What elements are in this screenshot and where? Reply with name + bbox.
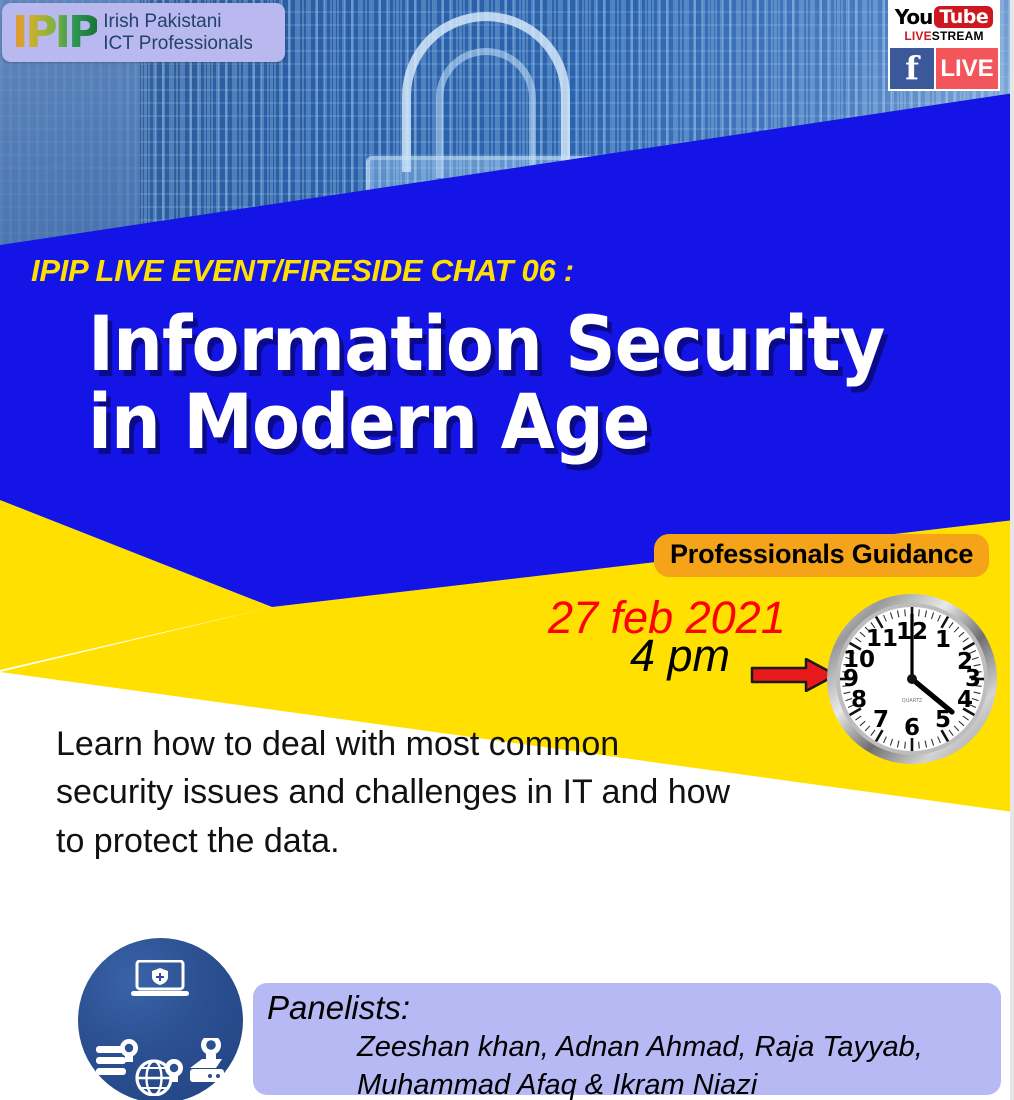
- laptop-shield-icon: [130, 960, 190, 998]
- panelists-title: Panelists:: [267, 991, 985, 1026]
- event-description: Learn how to deal with most common secur…: [56, 720, 796, 865]
- ipip-logo-name: Irish Pakistani ICT Professionals: [103, 11, 253, 54]
- clock-numeral-6: 6: [904, 715, 920, 741]
- facebook-f-icon: f: [890, 48, 934, 89]
- clock-numeral-11: 11: [866, 626, 898, 652]
- panelists-names: Zeeshan khan, Adnan Ahmad, Raja Tayyab, …: [357, 1028, 985, 1100]
- security-sub-icons: [92, 1038, 230, 1096]
- event-time: 4 pm: [630, 630, 730, 682]
- event-kicker: IPIP LIVE EVENT/FIRESIDE CHAT 06 :: [31, 253, 574, 289]
- page-title: Information Security in Modern Age: [88, 305, 884, 460]
- it-security-badge: [78, 938, 243, 1100]
- ipip-logo[interactable]: IPIP Irish Pakistani ICT Professionals: [2, 3, 285, 62]
- livestream-badges: You Tube LIVESTREAM f LIVE: [888, 0, 1000, 91]
- professionals-guidance-badge: Professionals Guidance: [654, 534, 989, 577]
- analog-clock: 12 1 2 3 4 5 6 7 8 9 10 11 QUARTZ: [824, 590, 1000, 766]
- event-poster: IPIP Irish Pakistani ICT Professionals Y…: [0, 0, 1014, 1100]
- panelists-box: Panelists: Zeeshan khan, Adnan Ahmad, Ra…: [253, 983, 1001, 1095]
- clock-numeral-7: 7: [873, 707, 889, 733]
- clock-numeral-1: 1: [935, 627, 951, 653]
- facebook-live-badge[interactable]: f LIVE: [888, 46, 1000, 91]
- youtube-you-text: You: [895, 5, 933, 29]
- facebook-live-label: LIVE: [936, 48, 998, 89]
- youtube-tube-text: Tube: [934, 6, 993, 28]
- youtube-live-text: LIVE: [904, 29, 931, 43]
- youtube-stream-text: STREAM: [932, 29, 984, 43]
- youtube-livestream-badge[interactable]: You Tube LIVESTREAM: [888, 0, 1000, 46]
- clock-numeral-4: 4: [957, 687, 973, 713]
- clock-brand-text: QUARTZ: [902, 698, 923, 704]
- ipip-logo-mark: IPIP: [10, 11, 97, 55]
- youtube-livestream-label: LIVESTREAM: [904, 29, 983, 43]
- youtube-logo: You Tube: [895, 5, 994, 29]
